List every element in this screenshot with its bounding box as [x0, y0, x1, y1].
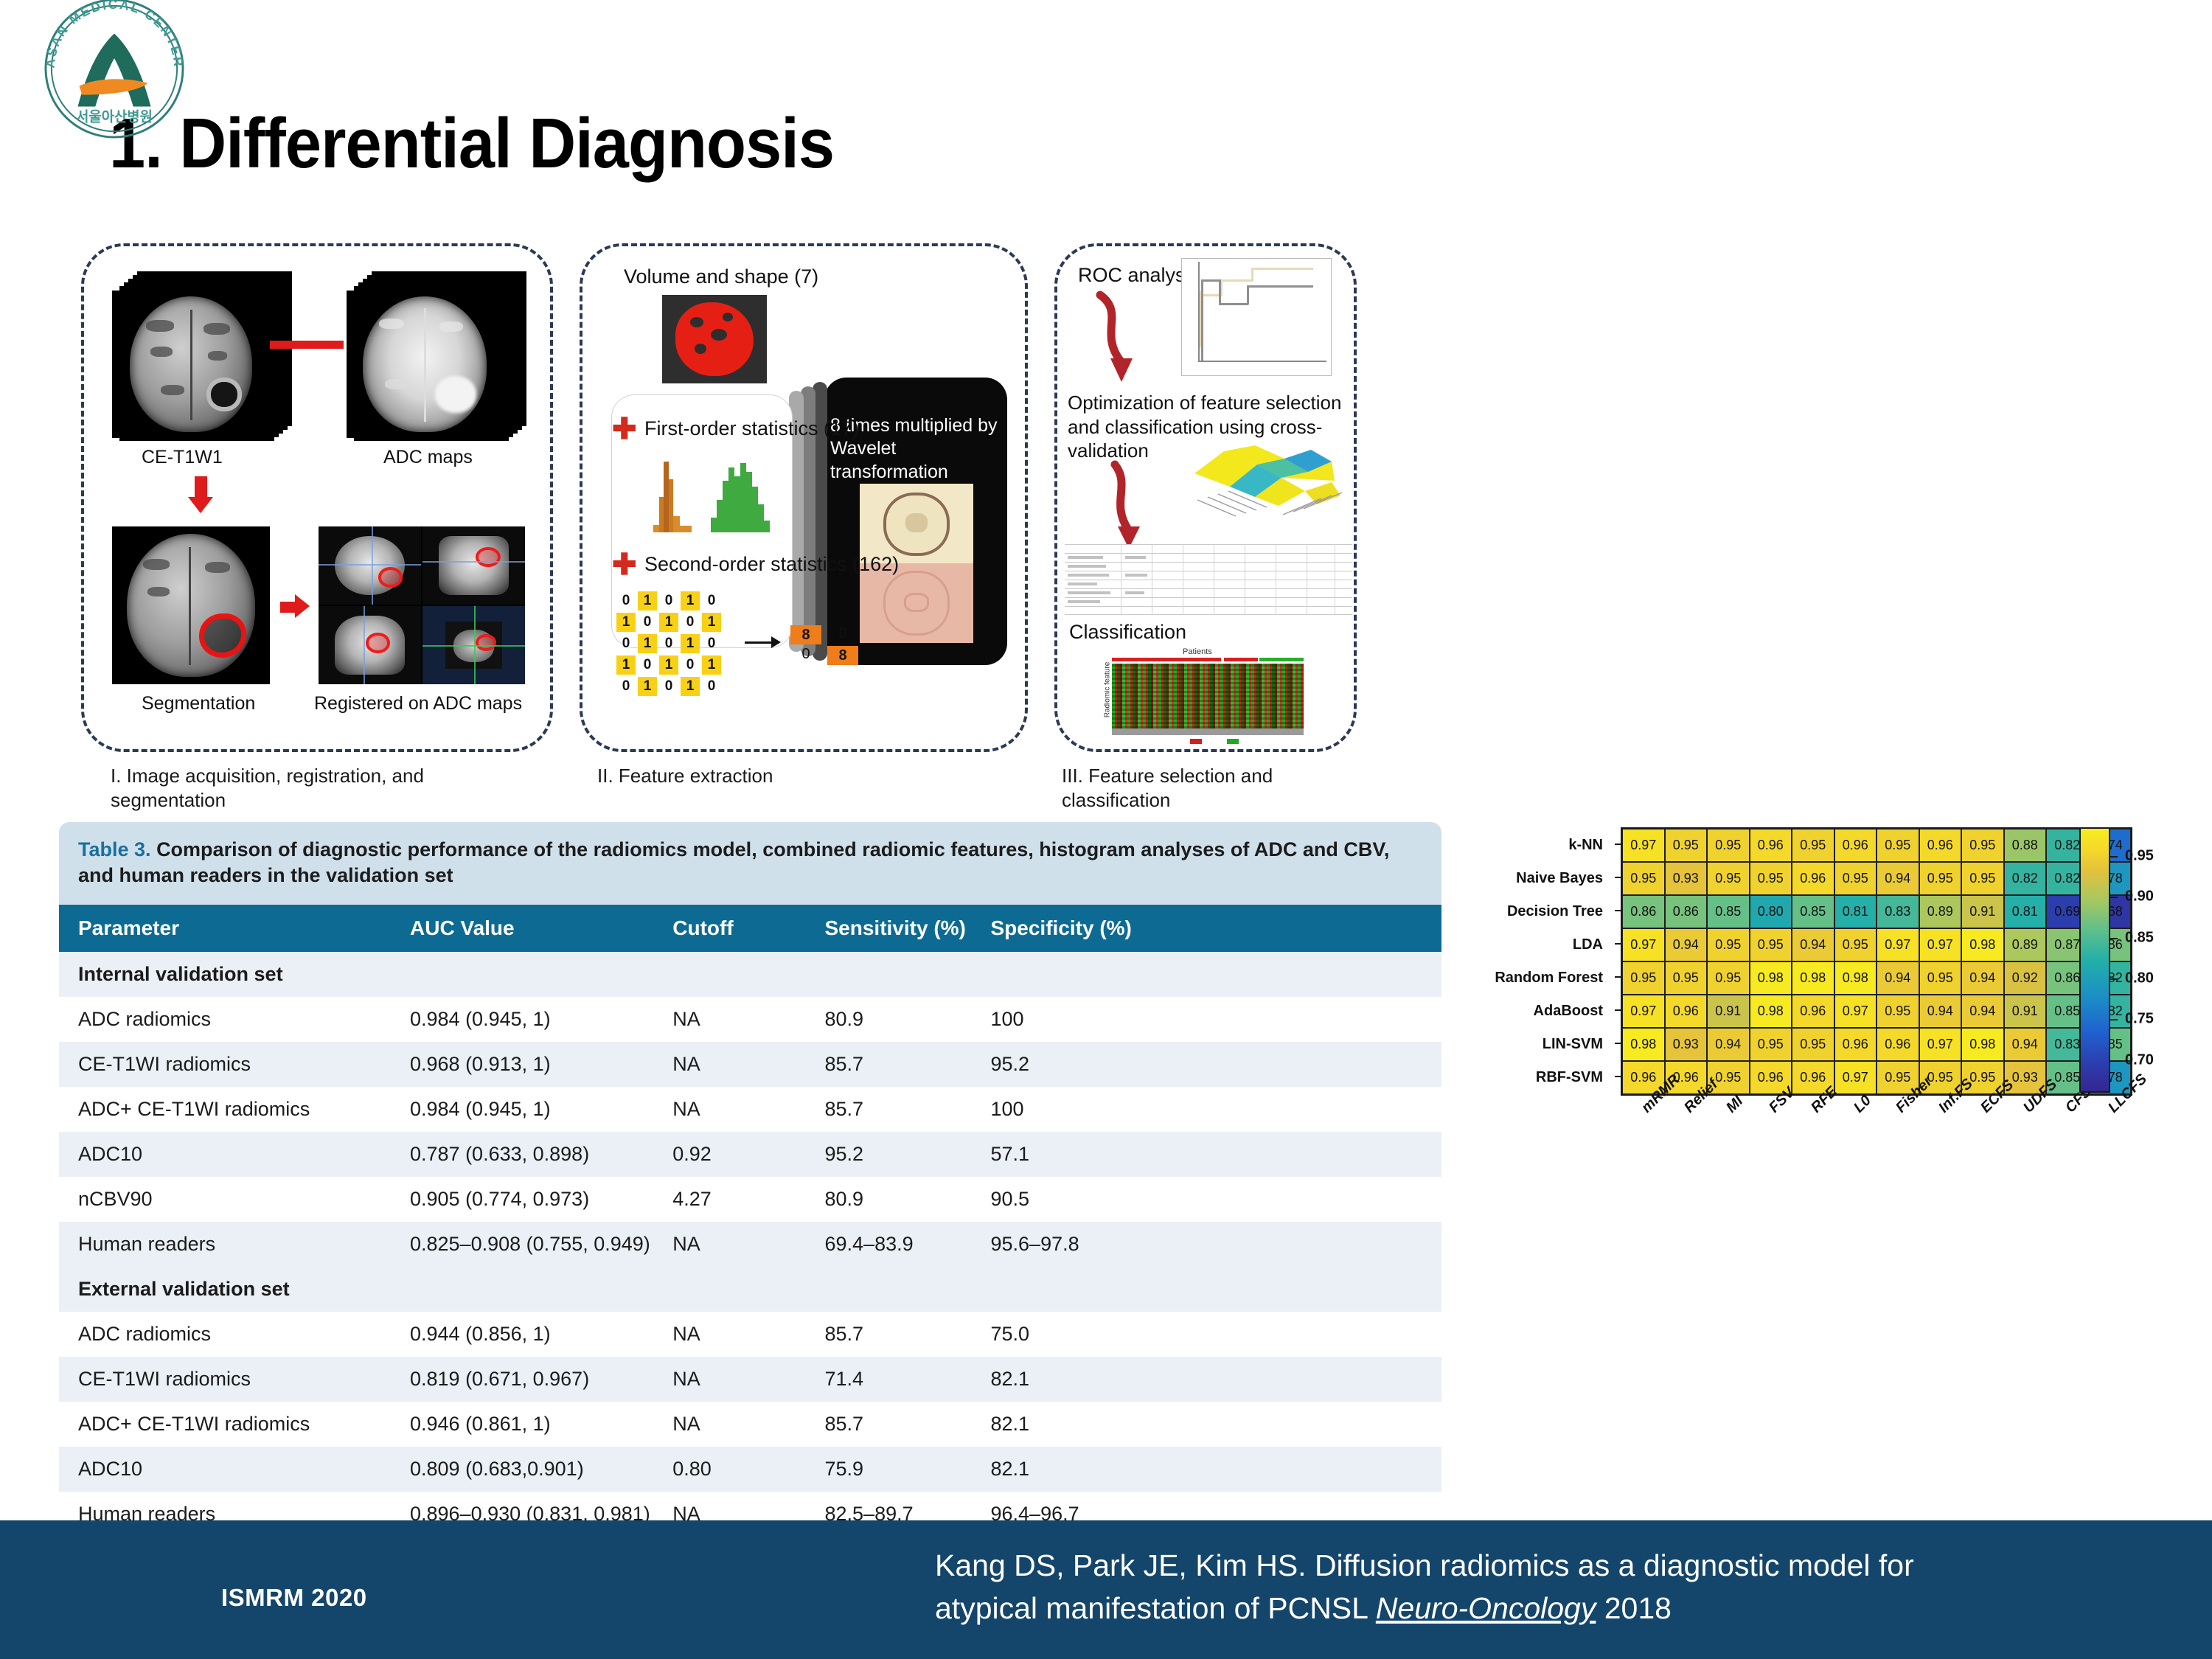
table-cell: 0.825–0.908 (0.755, 0.949) [391, 1222, 653, 1267]
table-row: ADC radiomics0.944 (0.856, 1)NA85.775.0 [59, 1312, 1441, 1357]
heatmap-cell-0-5: 0.96 [1834, 829, 1877, 862]
table-cell: 85.7 [806, 1402, 972, 1447]
heatmap-row-label-1: Naive Bayes [1516, 870, 1603, 887]
adc-maps-image-stack [344, 271, 528, 441]
binary-matrix-cell-4-0: 0 [616, 677, 636, 696]
table-cell: ADC10 [59, 1447, 391, 1492]
connector-line-red [270, 341, 344, 349]
heatmap-cell-6-0: 0.98 [1622, 1028, 1665, 1061]
heatmap-cell-3-2: 0.95 [1707, 928, 1750, 961]
heatmap-cell-1-5: 0.95 [1834, 862, 1877, 895]
heatmap-cell-2-8: 0.91 [1961, 895, 2004, 928]
heatmap-row-label-7: RBF-SVM [1536, 1069, 1603, 1086]
table-cell: 0.80 [653, 1447, 805, 1492]
asan-medical-center-logo: ASAN MEDICAL CENTER 서울아산병원 [41, 0, 187, 142]
label-patients: Patients [1183, 647, 1212, 656]
table3-body: Internal validation setADC radiomics0.98… [59, 952, 1441, 1537]
colorbar-tick-2 [2110, 938, 2118, 939]
table-cell: 69.4–83.9 [806, 1222, 972, 1267]
table-cell: ADC radiomics [59, 1312, 391, 1357]
heatmap-cell-5-9: 0.91 [2004, 995, 2047, 1028]
heatmap-row-tick-1 [1615, 877, 1621, 878]
label-segmentation: Segmentation [142, 693, 255, 714]
heatmap-row-labels: k-NNNaive BayesDecision TreeLDARandom Fo… [1489, 827, 1615, 1093]
table-cell: 0.92 [653, 1132, 805, 1177]
logo-korean-text: 서울아산병원 [76, 108, 153, 125]
heatmap-cell-0-2: 0.95 [1707, 829, 1750, 862]
binary-matrix-cell-1-2: 1 [659, 613, 678, 632]
heatmap-cell-1-3: 0.95 [1750, 862, 1792, 895]
ce-t1w1-image-stack [112, 271, 282, 441]
heatmap-col-label-5: L0 [1851, 1092, 1875, 1116]
table-cell: nCBV90 [59, 1177, 391, 1222]
binary-matrix-cell-2-1: 1 [638, 634, 657, 653]
table3-caption-label: Table 3. [78, 838, 151, 860]
glcm-cell-0-0: 8 [790, 625, 821, 644]
table-cell: 57.1 [972, 1132, 1442, 1177]
heatmap-figure: k-NNNaive BayesDecision TreeLDARandom Fo… [1489, 811, 2197, 1401]
colorbar-tick-label-2: 0.85 [2125, 929, 2154, 946]
heatmap-cell-3-9: 0.89 [2004, 928, 2047, 961]
glcm-cell-1-0: 0 [790, 646, 821, 665]
table-cell [806, 952, 972, 997]
heatmap-row-label-4: Random Forest [1495, 970, 1603, 987]
table-cell: 100 [972, 1087, 1442, 1132]
binary-matrix-cell-3-4: 1 [702, 655, 721, 675]
table-cell [391, 1267, 653, 1312]
colorbar-tick-1 [2110, 897, 2118, 898]
page-title: 1. Differential Diagnosis [109, 103, 834, 184]
binary-matrix-cell-2-0: 0 [616, 634, 636, 653]
table-cell: ADC10 [59, 1132, 391, 1177]
heatmap-cell-3-7: 0.97 [1919, 928, 1962, 961]
table3-caption-text: Comparison of diagnostic performance of … [78, 838, 1389, 886]
binary-matrix-cell-0-3: 1 [681, 591, 700, 611]
heatmap-colorbar [2079, 827, 2110, 1093]
heatmap-cell-2-2: 0.85 [1707, 895, 1750, 928]
table-cell [653, 1267, 805, 1312]
table-cell: ADC+ CE-T1WI radiomics [59, 1402, 391, 1447]
label-radiomic-features: Radiomic feature [1099, 664, 1106, 728]
binary-matrix-cell-1-3: 0 [681, 613, 700, 632]
heatmap-cell-0-7: 0.96 [1919, 829, 1962, 862]
heatmap-cell-6-6: 0.96 [1877, 1028, 1919, 1061]
binary-matrix-cell-4-4: 0 [702, 677, 721, 696]
heatmap-cell-5-2: 0.91 [1707, 995, 1750, 1028]
results-mini-table [1065, 544, 1352, 615]
heatmap-cell-0-9: 0.88 [2004, 829, 2047, 862]
heatmap-cell-6-1: 0.93 [1665, 1028, 1708, 1061]
heatmap-cell-2-5: 0.81 [1834, 895, 1877, 928]
table-cell: 0.944 (0.856, 1) [391, 1312, 653, 1357]
glcm-cell-0-1: 0 [827, 625, 858, 644]
table-cell [806, 1267, 972, 1312]
table-cell: ADC+ CE-T1WI radiomics [59, 1087, 391, 1132]
table-cell: NA [653, 1042, 805, 1087]
table-cell: 100 [972, 997, 1442, 1042]
table3-col-header-1: AUC Value [391, 905, 653, 952]
heatmap-row-tick-3 [1615, 943, 1621, 945]
heatmap-cell-0-3: 0.96 [1750, 829, 1792, 862]
heatmap-cell-3-8: 0.98 [1961, 928, 2004, 961]
table-row: ADC radiomics0.984 (0.945, 1)NA80.9100 [59, 997, 1441, 1042]
table-row: CE-T1WI radiomics0.819 (0.671, 0.967)NA7… [59, 1357, 1441, 1402]
table-cell: NA [653, 1357, 805, 1402]
surface-3d-plot [1187, 429, 1349, 518]
table-row: nCBV900.905 (0.774, 0.973)4.2780.990.5 [59, 1177, 1441, 1222]
table-cell: Internal validation set [59, 952, 391, 997]
heatmap-cell-3-1: 0.94 [1665, 928, 1708, 961]
segmentation-image [112, 526, 270, 684]
label-ce-t1w1: CE-T1W1 [142, 447, 223, 468]
binary-matrix-cell-2-2: 0 [659, 634, 678, 653]
colorbar-tick-label-5: 0.70 [2125, 1051, 2154, 1068]
table-cell: 75.9 [806, 1447, 972, 1492]
heatmap-cell-5-7: 0.94 [1919, 995, 1962, 1028]
table3-container: Table 3. Comparison of diagnostic perfor… [59, 822, 1441, 1592]
plus-icon-second-order: ✚ [612, 550, 637, 580]
binary-matrix-cell-4-1: 1 [638, 677, 657, 696]
table-section-row: Internal validation set [59, 952, 1441, 997]
heatmap-cell-3-5: 0.95 [1834, 928, 1877, 961]
table3-col-header-4: Specificity (%) [972, 905, 1442, 952]
heatmap-cell-4-7: 0.95 [1919, 961, 1962, 995]
colorbar-tick-5 [2110, 1060, 2118, 1062]
label-adc-maps: ADC maps [383, 447, 473, 468]
table3-col-header-0: Parameter [59, 905, 391, 952]
heatmap-cell-0-4: 0.95 [1792, 829, 1834, 862]
heatmap-cell-4-6: 0.94 [1877, 961, 1919, 995]
classification-group-bars: Patients [1112, 650, 1304, 664]
table-cell: 85.7 [806, 1312, 972, 1357]
table-cell: NA [653, 1087, 805, 1132]
table-cell: 95.2 [972, 1042, 1442, 1087]
table-cell: NA [653, 1402, 805, 1447]
table-cell [391, 952, 653, 997]
citation-line-2-post: 2018 [1596, 1591, 1672, 1625]
heatmap-cell-2-6: 0.83 [1877, 895, 1919, 928]
binary-matrix-cell-4-3: 1 [681, 677, 700, 696]
heatmap-col-label-2: MI [1723, 1093, 1747, 1116]
heatmap-cell-0-8: 0.95 [1961, 829, 2004, 862]
table3-col-header-3: Sensitivity (%) [806, 905, 972, 952]
table-cell: 80.9 [806, 997, 972, 1042]
heatmap-row-label-0: k-NN [1568, 837, 1603, 854]
histogram-green [706, 459, 780, 532]
heatmap-cell-2-9: 0.81 [2004, 895, 2047, 928]
workflow-panel-feature-extraction: Volume and shape (7) 8 times multiplied … [580, 243, 1028, 752]
heatmap-cell-5-0: 0.97 [1622, 995, 1665, 1028]
heatmap-cell-4-9: 0.92 [2004, 961, 2047, 995]
heatmap-row-tick-7 [1615, 1076, 1621, 1077]
heatmap-cell-4-8: 0.94 [1961, 961, 2004, 995]
label-first-order-statistics: First-order statistics (17) [644, 417, 859, 440]
binary-matrix-cell-3-2: 1 [659, 655, 678, 675]
table-section-row: External validation set [59, 1267, 1441, 1312]
table-row: ADC100.787 (0.633, 0.898)0.9295.257.1 [59, 1132, 1441, 1177]
table-cell: 80.9 [806, 1177, 972, 1222]
table-cell: 82.1 [972, 1357, 1442, 1402]
table-row: CE-T1WI radiomics0.968 (0.913, 1)NA85.79… [59, 1042, 1441, 1087]
colorbar-tick-4 [2110, 1019, 2118, 1020]
table-cell: NA [653, 1222, 805, 1267]
table-row: ADC+ CE-T1WI radiomics0.946 (0.861, 1)NA… [59, 1402, 1441, 1447]
heatmap-cell-1-4: 0.96 [1792, 862, 1834, 895]
table-cell: 85.7 [806, 1042, 972, 1087]
label-volume-and-shape: Volume and shape (7) [624, 265, 818, 288]
workflow-panel-classification: ROC analysis [1054, 243, 1357, 752]
heatmap-cell-4-2: 0.95 [1707, 961, 1750, 995]
heatmap-cell-2-7: 0.89 [1919, 895, 1962, 928]
plus-icon-first-order: ✚ [612, 414, 637, 444]
table-cell: 4.27 [653, 1177, 805, 1222]
table-cell: 71.4 [806, 1357, 972, 1402]
table-cell: 82.1 [972, 1402, 1442, 1447]
heatmap-cell-5-8: 0.94 [1961, 995, 2004, 1028]
heatmap-row-tick-6 [1615, 1043, 1621, 1044]
heatmap-cell-7-5: 0.97 [1834, 1061, 1877, 1094]
heatmap-cell-5-1: 0.96 [1665, 995, 1708, 1028]
roc-plot [1181, 258, 1332, 376]
binary-matrix-cell-2-3: 1 [681, 634, 700, 653]
colorbar-tick-3 [2110, 978, 2118, 980]
conference-label: ISMRM 2020 [221, 1584, 367, 1612]
table-cell: ADC radiomics [59, 997, 391, 1042]
table-cell: 90.5 [972, 1177, 1442, 1222]
binary-matrix-cell-4-2: 0 [659, 677, 678, 696]
heatmap-cell-6-3: 0.95 [1750, 1028, 1792, 1061]
citation-journal: Neuro-Oncology [1376, 1591, 1596, 1625]
heatmap-cell-0-6: 0.95 [1877, 829, 1919, 862]
colorbar-tick-label-3: 0.80 [2125, 970, 2154, 987]
heatmap-row-tick-0 [1615, 844, 1621, 845]
heatmap-row-label-6: LIN-SVM [1543, 1036, 1603, 1053]
table3-caption: Table 3. Comparison of diagnostic perfor… [59, 822, 1441, 905]
table-cell [972, 1267, 1442, 1312]
heatmap-cell-1-0: 0.95 [1622, 862, 1665, 895]
heatmap-grid: 0.970.950.950.960.950.960.950.960.950.88… [1621, 827, 2132, 1096]
table-cell: 0.946 (0.861, 1) [391, 1402, 653, 1447]
table-cell: 85.7 [806, 1087, 972, 1132]
heatmap-cell-6-8: 0.98 [1961, 1028, 2004, 1061]
citation-line-2-pre: atypical manifestation of PCNSL [935, 1591, 1376, 1625]
heatmap-cell-2-3: 0.80 [1750, 895, 1792, 928]
heatmap-cell-4-5: 0.98 [1834, 961, 1877, 995]
heatmap-cell-2-0: 0.86 [1622, 895, 1665, 928]
heatmap-cell-4-4: 0.98 [1792, 961, 1834, 995]
heatmap-cell-4-0: 0.95 [1622, 961, 1665, 995]
binary-matrix-cell-0-4: 0 [702, 591, 721, 611]
label-second-order-statistics: Second-order statistics (162) [644, 553, 899, 576]
table-cell: 0.905 (0.774, 0.973) [391, 1177, 653, 1222]
heatmap-cell-2-1: 0.86 [1665, 895, 1708, 928]
table-cell: 0.968 (0.913, 1) [391, 1042, 653, 1087]
label-classification: Classification [1069, 621, 1186, 644]
workflow-panel-acquisition: CE-T1W1 ADC maps [81, 243, 553, 752]
heatmap-row-tick-4 [1615, 976, 1621, 978]
heatmap-cell-2-4: 0.85 [1792, 895, 1834, 928]
heatmap-cell-3-3: 0.95 [1750, 928, 1792, 961]
heatmap-column-labels: mRMRReliefMIFSVRFEL0FisherInf.FSECFSUDFS… [1621, 1097, 2129, 1200]
heatmap-row-label-2: Decision Tree [1507, 903, 1603, 920]
heatmap-cell-1-9: 0.82 [2004, 862, 2047, 895]
binary-matrix-cell-1-0: 1 [616, 613, 636, 632]
heatmap-cell-3-6: 0.97 [1877, 928, 1919, 961]
glcm-cell-1-1: 8 [827, 646, 858, 665]
table-cell: Human readers [59, 1222, 391, 1267]
table-cell: 95.6–97.8 [972, 1222, 1442, 1267]
heatmap-row-label-5: AdaBoost [1534, 1003, 1603, 1020]
heatmap-cell-3-0: 0.97 [1622, 928, 1665, 961]
binary-matrix-cell-2-4: 0 [702, 634, 721, 653]
table-cell: External validation set [59, 1267, 391, 1312]
colorbar-tick-0 [2110, 856, 2118, 858]
heatmap-cell-6-4: 0.95 [1792, 1028, 1834, 1061]
table-cell: 0.809 (0.683,0.901) [391, 1447, 653, 1492]
classification-legend [1190, 737, 1239, 746]
heatmap-cell-5-3: 0.98 [1750, 995, 1792, 1028]
heatmap-cell-1-2: 0.95 [1707, 862, 1750, 895]
binary-matrix-cell-3-0: 1 [616, 655, 636, 675]
heatmap-cell-1-7: 0.95 [1919, 862, 1962, 895]
heatmap-cell-1-1: 0.93 [1665, 862, 1708, 895]
colorbar-tick-label-4: 0.75 [2125, 1011, 2154, 1028]
table-cell: 0.787 (0.633, 0.898) [391, 1132, 653, 1177]
arrow-curved-2 [1103, 460, 1171, 553]
table-row: ADC+ CE-T1WI radiomics0.984 (0.945, 1)NA… [59, 1087, 1441, 1132]
heatmap-row-label-3: LDA [1573, 936, 1603, 953]
heatmap-cell-6-2: 0.94 [1707, 1028, 1750, 1061]
heatmap-cell-1-6: 0.94 [1877, 862, 1919, 895]
workflow-caption-3: III. Feature selection and classificatio… [1062, 764, 1342, 812]
classification-axis-bar [1112, 728, 1304, 735]
table-cell: 0.984 (0.945, 1) [391, 1087, 653, 1132]
heatmap-cell-4-3: 0.98 [1750, 961, 1792, 995]
binary-matrix-cell-0-1: 1 [638, 591, 657, 611]
heatmap-cell-1-8: 0.95 [1961, 862, 2004, 895]
table-cell [972, 952, 1442, 997]
table-cell: NA [653, 1312, 805, 1357]
table-row: Human readers0.825–0.908 (0.755, 0.949)N… [59, 1222, 1441, 1267]
classification-heatmap-image [1112, 664, 1304, 728]
colorbar-tick-label-1: 0.90 [2125, 888, 2154, 905]
table-cell: 0.819 (0.671, 0.967) [391, 1357, 653, 1402]
binary-matrix-cell-3-1: 0 [638, 655, 657, 675]
heatmap-cell-4-1: 0.95 [1665, 961, 1708, 995]
heatmap-cell-5-6: 0.95 [1877, 995, 1919, 1028]
binary-matrix: 0101010101010101010101010 [616, 591, 721, 696]
binary-matrix-cell-1-4: 1 [702, 613, 721, 632]
table3-header-row: ParameterAUC ValueCutoffSensitivity (%)S… [59, 905, 1441, 952]
table3-col-header-2: Cutoff [653, 905, 805, 952]
arrow-curved-1 [1091, 291, 1172, 386]
table-cell: 82.1 [972, 1447, 1442, 1492]
heatmap-cell-6-5: 0.96 [1834, 1028, 1877, 1061]
workflow-caption-1: I. Image acquisition, registration, and … [111, 764, 450, 812]
heatmap-cell-6-9: 0.94 [2004, 1028, 2047, 1061]
table-row: ADC100.809 (0.683,0.901)0.8075.982.1 [59, 1447, 1441, 1492]
citation-line-1: Kang DS, Park JE, Kim HS. Diffusion radi… [935, 1548, 1914, 1582]
heatmap-cell-0-1: 0.95 [1665, 829, 1708, 862]
citation-text: Kang DS, Park JE, Kim HS. Diffusion radi… [935, 1544, 2188, 1630]
heatmap-cell-5-4: 0.96 [1792, 995, 1834, 1028]
binary-matrix-cell-0-2: 0 [659, 591, 678, 611]
table-cell: CE-T1WI radiomics [59, 1357, 391, 1402]
heatmap-row-tick-5 [1615, 1009, 1621, 1011]
volume-shape-thumbnail [662, 295, 767, 383]
table-cell [653, 952, 805, 997]
heatmap-row-tick-2 [1615, 910, 1621, 911]
colorbar-tick-label-0: 0.95 [2125, 847, 2154, 864]
label-registered-adc: Registered on ADC maps [314, 693, 522, 714]
workflow-caption-2: II. Feature extraction [597, 764, 907, 788]
table-cell: 0.984 (0.945, 1) [391, 997, 653, 1042]
table-cell: NA [653, 997, 805, 1042]
table-cell: CE-T1WI radiomics [59, 1042, 391, 1087]
table-cell: 75.0 [972, 1312, 1442, 1357]
binary-matrix-cell-3-3: 0 [681, 655, 700, 675]
table-cell: 95.2 [806, 1132, 972, 1177]
binary-matrix-cell-0-0: 0 [616, 591, 636, 611]
workflow-figure: CE-T1W1 ADC maps [81, 243, 1371, 826]
registered-adc-quad-view [319, 526, 525, 684]
heatmap-cell-3-4: 0.94 [1792, 928, 1834, 961]
table3: ParameterAUC ValueCutoffSensitivity (%)S… [59, 905, 1441, 1537]
histogram-orange [650, 459, 695, 532]
binary-matrix-cell-1-1: 0 [638, 613, 657, 632]
heatmap-cell-5-5: 0.97 [1834, 995, 1877, 1028]
heatmap-cell-6-7: 0.97 [1919, 1028, 1962, 1061]
heatmap-cell-0-0: 0.97 [1622, 829, 1665, 862]
